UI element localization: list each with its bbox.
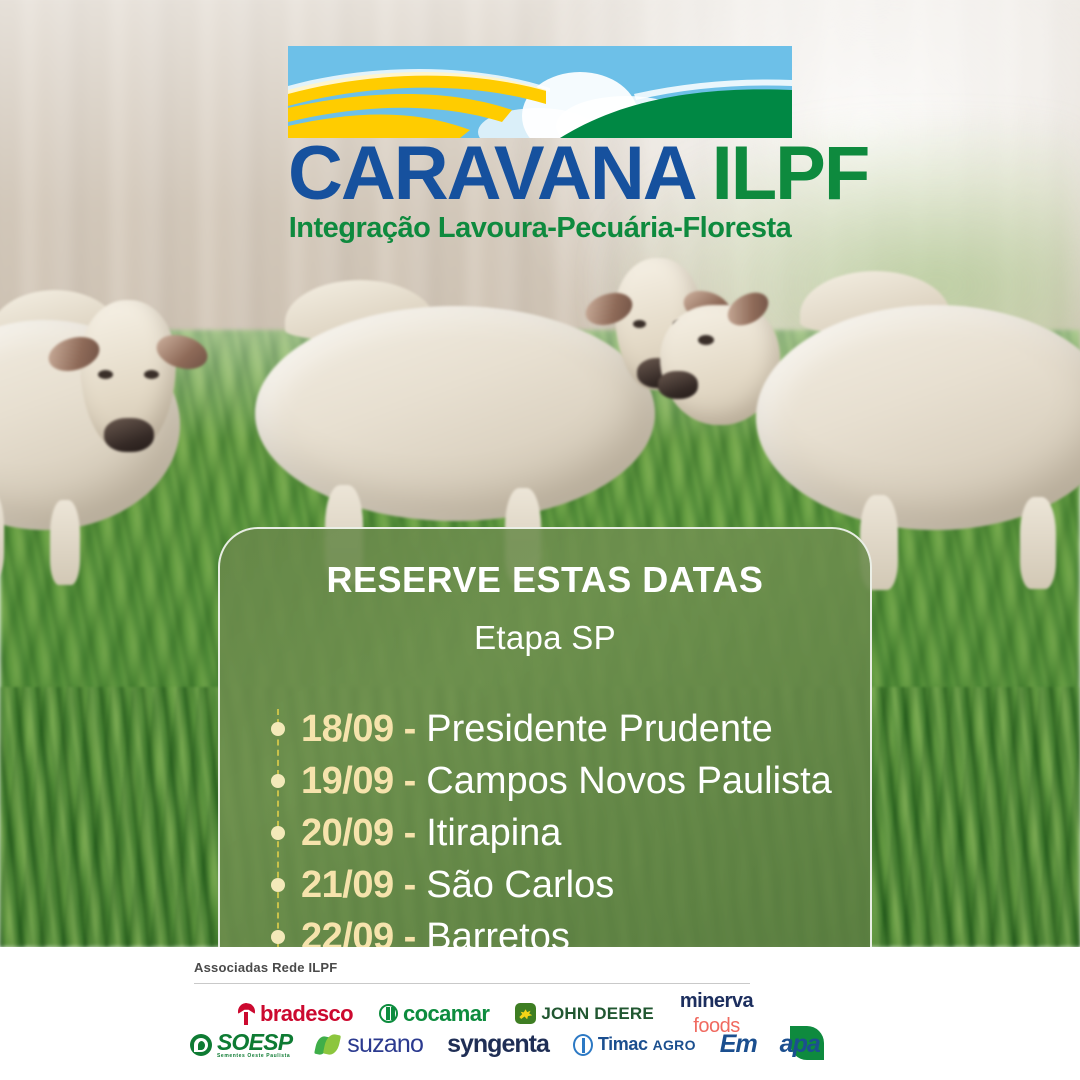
soesp-sublabel: Sementes Oeste Paulista	[217, 1054, 292, 1059]
event-separator: -	[404, 864, 417, 907]
timac-label: Timac	[598, 1034, 648, 1055]
card-title: RESERVE ESTAS DATAS	[220, 559, 870, 601]
embrapa-label: Embrapa	[720, 1030, 820, 1058]
partner-logo-cocamar[interactable]: cocamar	[379, 1001, 489, 1027]
john-deere-deer-icon	[515, 1003, 536, 1024]
embrapa-part-c: apa	[780, 1030, 820, 1058]
embrapa-part-a: Em	[720, 1030, 757, 1058]
list-item: 20/09 - Itirapina	[258, 807, 870, 859]
list-item: 19/09 - Campos Novos Paulista	[258, 755, 870, 807]
timac-agro-label: AGRO	[653, 1037, 696, 1053]
partner-logo-suzano[interactable]: suzano	[316, 1030, 423, 1059]
event-date: 20/09	[301, 812, 394, 855]
event-city: Barretos	[426, 916, 570, 948]
suzano-label: suzano	[347, 1030, 423, 1059]
dates-card: RESERVE ESTAS DATAS Etapa SP 18/09 - Pre…	[218, 527, 872, 947]
soesp-leaf-icon	[190, 1034, 212, 1056]
cocamar-circle-icon	[379, 1004, 398, 1023]
timeline-dot-icon	[271, 722, 285, 736]
event-separator: -	[404, 760, 417, 803]
suzano-leaves-icon	[316, 1034, 342, 1056]
caravana-ilpf-logo: CARAVANAILPF Integração Lavoura-Pecuária…	[288, 46, 792, 228]
event-separator: -	[404, 708, 417, 751]
event-date: 22/09	[301, 916, 394, 948]
event-city: São Carlos	[426, 864, 614, 907]
partner-logo-bradesco[interactable]: bradesco	[238, 1001, 353, 1027]
caravana-ilpf-wordmark: CARAVANAILPF Integração Lavoura-Pecuária…	[288, 138, 792, 245]
cocamar-label: cocamar	[403, 1001, 489, 1027]
soesp-label: SOESP	[217, 1031, 292, 1054]
list-item: 22/09 - Barretos	[258, 911, 870, 947]
event-separator: -	[404, 916, 417, 948]
cow-left	[0, 290, 260, 540]
cow-right	[660, 265, 1080, 565]
partner-logo-john-deere[interactable]: JOHN DEERE	[515, 1003, 654, 1024]
partner-logo-timac-agro[interactable]: Timac AGRO	[573, 1034, 696, 1056]
event-city: Campos Novos Paulista	[426, 760, 832, 803]
event-city: Presidente Prudente	[426, 708, 772, 751]
card-subtitle: Etapa SP	[220, 619, 870, 657]
logo-tagline: Integração Lavoura-Pecuária-Floresta	[288, 212, 792, 245]
timeline-dot-icon	[271, 774, 285, 788]
partner-logo-soesp[interactable]: SOESP Sementes Oeste Paulista	[190, 1031, 292, 1059]
dates-list: 18/09 - Presidente Prudente 19/09 - Camp…	[258, 703, 870, 947]
john-deere-label: JOHN DEERE	[541, 1004, 654, 1024]
event-date: 19/09	[301, 760, 394, 803]
list-item: 18/09 - Presidente Prudente	[258, 703, 870, 755]
event-separator: -	[404, 812, 417, 855]
caravana-ilpf-emblem-icon	[288, 46, 792, 138]
divider	[194, 983, 750, 984]
list-item: 21/09 - São Carlos	[258, 859, 870, 911]
event-date: 18/09	[301, 708, 394, 751]
timeline-dot-icon	[271, 930, 285, 944]
embrapa-part-b: br	[757, 1030, 780, 1058]
timeline-dot-icon	[271, 826, 285, 840]
minerva-label: minerva	[680, 991, 753, 1011]
logo-word-ilpf: ILPF	[712, 131, 869, 216]
bradesco-label: bradesco	[260, 1001, 353, 1027]
logo-word-caravana: CARAVANA	[288, 131, 696, 216]
footer-sponsors: Associadas Rede ILPF bradesco cocamar JO…	[0, 947, 1080, 1080]
poster-root: CARAVANAILPF Integração Lavoura-Pecuária…	[0, 0, 1080, 1080]
associates-label: Associadas Rede ILPF	[194, 960, 337, 975]
syngenta-label: syngenta	[447, 1030, 549, 1059]
timeline-dot-icon	[271, 878, 285, 892]
partner-logos-row-2: SOESP Sementes Oeste Paulista suzano syn…	[190, 1030, 820, 1059]
partner-logo-embrapa[interactable]: Embrapa	[720, 1030, 820, 1059]
partner-logo-syngenta[interactable]: syngenta	[447, 1030, 549, 1059]
event-city: Itirapina	[426, 812, 561, 855]
timac-circle-icon	[573, 1034, 593, 1056]
bradesco-tree-icon	[238, 1003, 255, 1025]
event-date: 21/09	[301, 864, 394, 907]
